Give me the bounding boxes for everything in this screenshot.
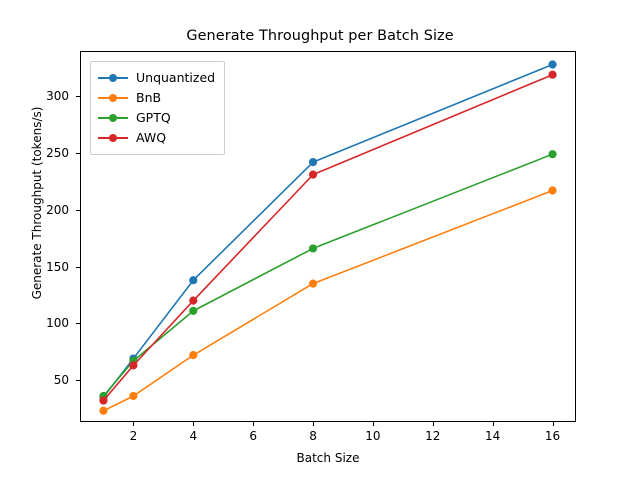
x-tick-label: 14	[473, 430, 513, 442]
x-tick-label: 12	[413, 430, 453, 442]
legend-item: AWQ	[98, 128, 215, 148]
y-tick-label: 50	[9, 374, 69, 386]
chart-title: Generate Throughput per Batch Size	[0, 28, 640, 44]
legend-item: GPTQ	[98, 108, 215, 128]
y-tick-label: 100	[9, 317, 69, 329]
x-tick-label: 4	[173, 430, 213, 442]
x-tick-mark	[133, 422, 134, 426]
data-point	[189, 307, 197, 315]
y-tick-label: 150	[9, 261, 69, 273]
data-point	[309, 158, 317, 166]
x-axis-ticks: 246810121416	[80, 422, 576, 452]
data-point	[309, 244, 317, 252]
data-point	[189, 276, 197, 284]
x-tick-label: 10	[353, 430, 393, 442]
series-gptq	[99, 150, 556, 400]
x-axis-label: Batch Size	[80, 451, 576, 465]
legend-item: Unquantized	[98, 68, 215, 88]
x-tick-label: 2	[113, 430, 153, 442]
y-tick-label: 250	[9, 147, 69, 159]
y-axis-ticks: 50100150200250300	[0, 51, 80, 422]
legend-label: BnB	[136, 92, 161, 105]
legend-marker-icon	[98, 71, 128, 85]
data-point	[99, 396, 107, 404]
chart-legend: UnquantizedBnBGPTQAWQ	[90, 61, 225, 155]
legend-marker-icon	[98, 91, 128, 105]
data-point	[99, 407, 107, 415]
x-tick-label: 8	[293, 430, 333, 442]
x-tick-mark	[433, 422, 434, 426]
y-tick-label: 300	[9, 90, 69, 102]
legend-label: GPTQ	[136, 112, 171, 125]
data-point	[189, 297, 197, 305]
x-tick-mark	[373, 422, 374, 426]
x-tick-mark	[193, 422, 194, 426]
x-tick-label: 6	[233, 430, 273, 442]
x-tick-mark	[253, 422, 254, 426]
figure-canvas: Generate Throughput per Batch Size Gener…	[0, 0, 640, 480]
y-tick-label: 200	[9, 204, 69, 216]
data-point	[129, 392, 137, 400]
data-point	[548, 60, 556, 68]
data-point	[129, 361, 137, 369]
data-point	[548, 186, 556, 194]
legend-item: BnB	[98, 88, 215, 108]
legend-marker-icon	[98, 111, 128, 125]
data-point	[309, 171, 317, 179]
data-point	[548, 71, 556, 79]
x-tick-mark	[493, 422, 494, 426]
legend-label: Unquantized	[136, 72, 215, 85]
legend-label: AWQ	[136, 132, 166, 145]
data-point	[309, 280, 317, 288]
data-point	[548, 150, 556, 158]
x-tick-label: 16	[533, 430, 573, 442]
legend-marker-icon	[98, 131, 128, 145]
x-tick-mark	[553, 422, 554, 426]
x-tick-mark	[313, 422, 314, 426]
series-bnb	[99, 186, 556, 414]
data-point	[189, 351, 197, 359]
